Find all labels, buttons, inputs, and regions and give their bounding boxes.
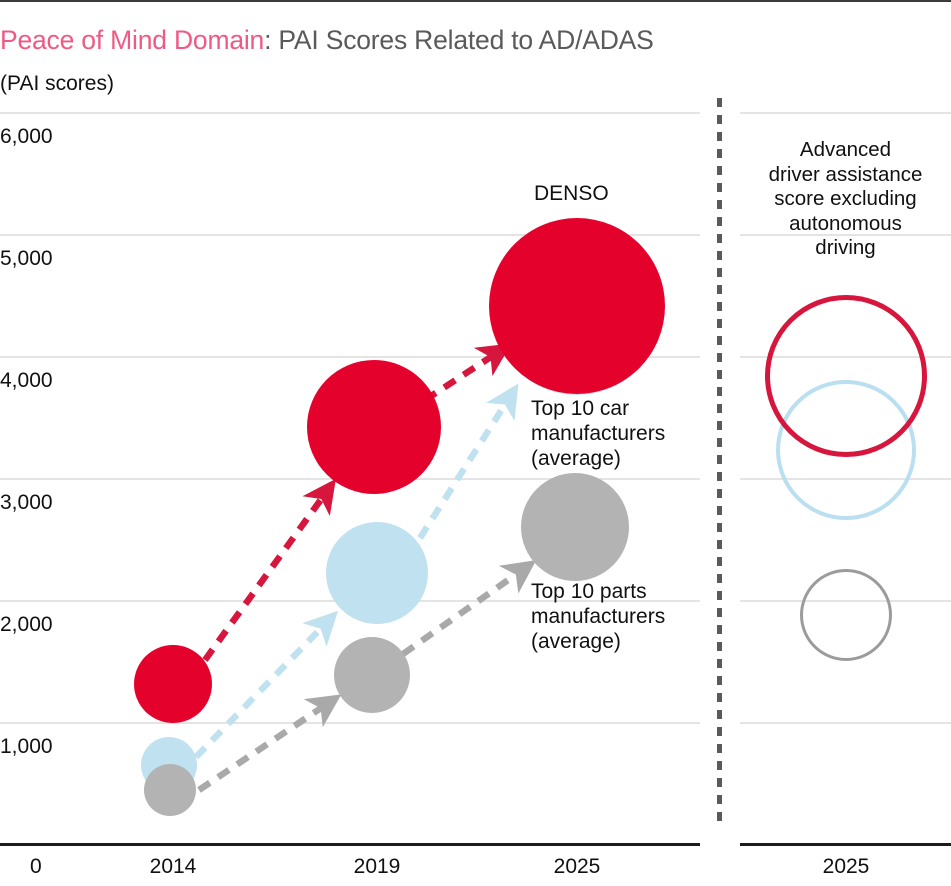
label-car-manufacturers: Top 10 car manufacturers (average) [531, 397, 665, 471]
bubble-parts-2014 [144, 764, 196, 816]
xtick-right-2025: 2025 [806, 856, 886, 877]
bubble-car-2019 [326, 522, 428, 624]
ytick-2000: 2,000 [0, 614, 53, 635]
ytick-3000: 3,000 [0, 492, 53, 513]
header-rule [0, 0, 951, 2]
ring-parts-2025 [800, 569, 892, 661]
label-parts-manufacturers: Top 10 parts manufacturers (average) [531, 580, 665, 654]
chart-container: Peace of Mind Domain: PAI Scores Related… [0, 0, 951, 886]
xtick-2014: 2014 [133, 856, 213, 877]
gridline-1000 [0, 722, 700, 724]
ytick-1000: 1,000 [0, 736, 53, 757]
gridline-6000 [0, 112, 700, 114]
arrow-car-2014-2019 [196, 618, 331, 757]
right-panel-note: Advanced driver assistance score excludi… [740, 138, 951, 261]
x-axis-left [0, 843, 700, 846]
gridline-right-1000 [740, 722, 951, 724]
ytick-5000: 5,000 [0, 248, 53, 269]
xtick-2025: 2025 [537, 856, 617, 877]
bubble-parts-2019 [334, 637, 410, 713]
title-accent: Peace of Mind Domain [0, 25, 264, 55]
ytick-6000: 6,000 [0, 126, 53, 147]
panel-divider [717, 98, 722, 828]
label-denso: DENSO [534, 182, 609, 207]
chart-subtitle: (PAI scores) [0, 72, 114, 96]
ytick-0: 0 [30, 856, 42, 877]
xtick-2019: 2019 [337, 856, 417, 877]
ring-denso-2025 [765, 295, 927, 457]
bubble-denso-2014 [134, 645, 212, 723]
page-title: Peace of Mind Domain: PAI Scores Related… [0, 25, 940, 56]
bubble-denso-2019 [307, 360, 441, 494]
ytick-4000: 4,000 [0, 370, 53, 391]
arrow-parts-2014-2019 [199, 700, 333, 790]
bubble-denso-2025 [489, 218, 665, 394]
title-rest: : PAI Scores Related to AD/ADAS [264, 25, 654, 55]
arrow-denso-2014-2019 [205, 487, 330, 660]
gridline-right-6000 [740, 112, 951, 114]
x-axis-right [740, 843, 951, 846]
bubble-parts-2025 [521, 473, 629, 581]
